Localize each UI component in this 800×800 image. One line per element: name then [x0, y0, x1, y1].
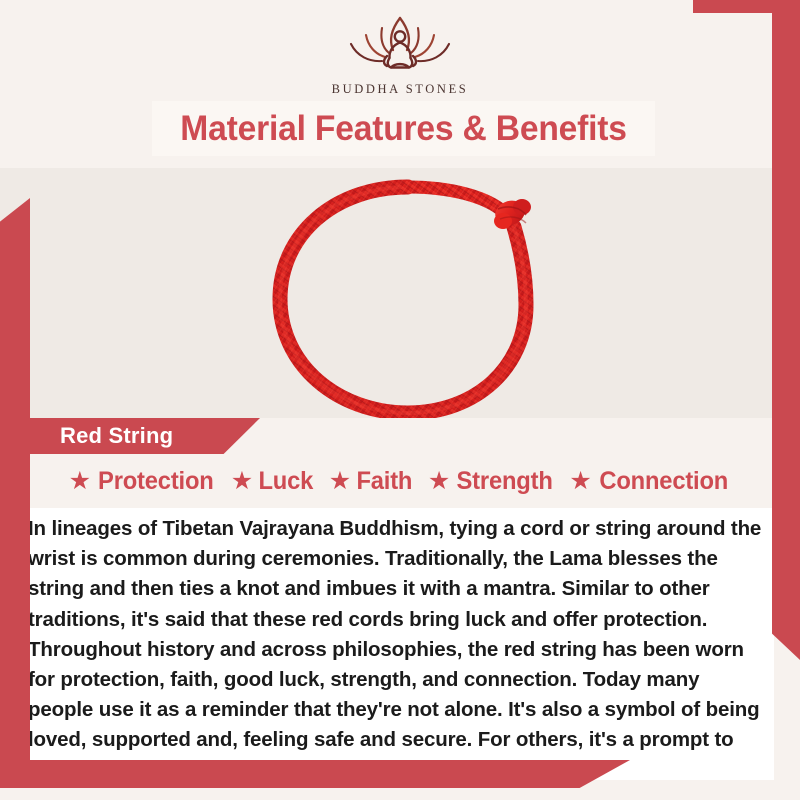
benefit-label: Luck — [259, 467, 314, 496]
frame-bottom-accent-bar — [0, 760, 630, 788]
benefit-item-faith: ★ Faith — [329, 467, 414, 496]
frame-right-accent-bar — [772, 0, 800, 660]
star-icon: ★ — [428, 469, 450, 494]
product-image-area — [0, 168, 800, 418]
star-icon: ★ — [69, 469, 91, 494]
description-card: In lineages of Tibetan Vajrayana Buddhis… — [22, 508, 774, 780]
benefit-label: Faith — [357, 467, 413, 496]
material-tag-banner: Red String — [0, 418, 260, 454]
benefit-item-strength: ★ Strength — [428, 467, 556, 496]
header-section: BUDDHA STONES Material Features & Benefi… — [0, 0, 800, 168]
star-icon: ★ — [329, 469, 351, 494]
red-string-bracelet-image — [238, 168, 578, 418]
benefit-label: Protection — [98, 467, 214, 496]
brand-logo: BUDDHA STONES — [0, 14, 800, 97]
page-title: Material Features & Benefits — [180, 109, 627, 149]
star-icon: ★ — [569, 469, 591, 494]
title-banner: Material Features & Benefits — [152, 101, 655, 156]
material-tag-label: Red String — [60, 423, 173, 449]
lotus-meditation-icon — [325, 14, 475, 76]
star-icon: ★ — [231, 469, 253, 494]
benefit-item-connection: ★ Connection — [569, 467, 731, 496]
benefit-label: Connection — [599, 467, 728, 496]
brand-wordmark: BUDDHA STONES — [332, 82, 469, 97]
benefit-label: Strength — [457, 467, 553, 496]
frame-left-accent-bar — [0, 198, 30, 788]
benefit-item-protection: ★ Protection — [69, 467, 217, 496]
benefit-item-luck: ★ Luck — [231, 467, 315, 496]
description-paragraph: In lineages of Tibetan Vajrayana Buddhis… — [28, 514, 770, 786]
benefits-list: ★ Protection ★ Luck ★ Faith ★ Strength ★… — [0, 454, 800, 508]
